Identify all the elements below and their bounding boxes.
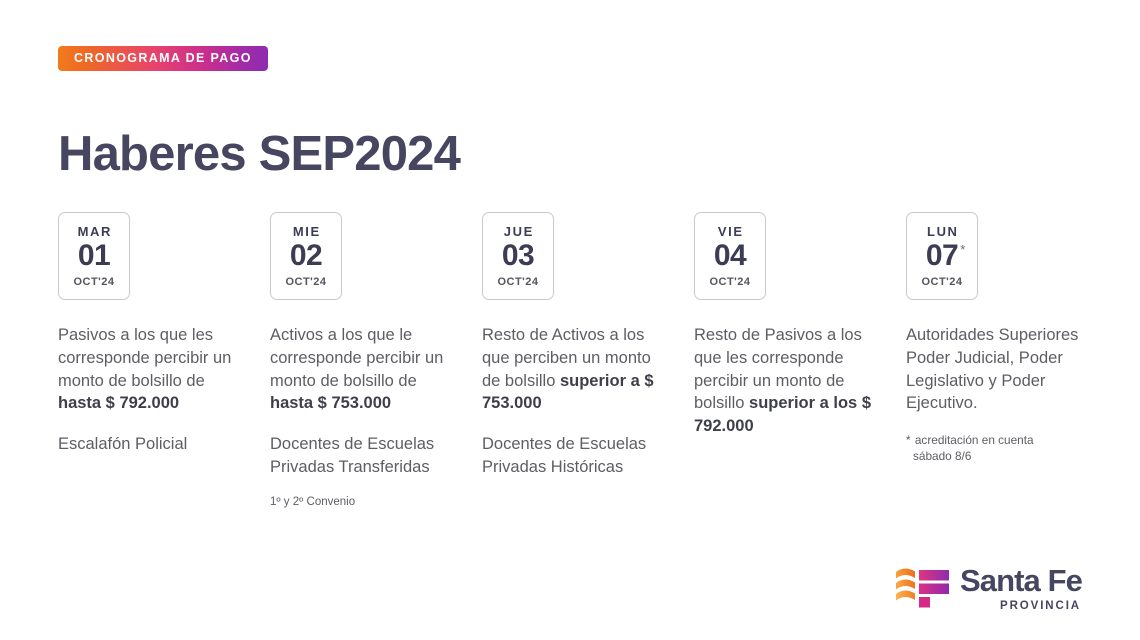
column-description: Resto de Pasivos a los que les correspon… <box>694 324 880 438</box>
footnote-line-1: acreditación en cuenta <box>912 433 1034 447</box>
date-card-month: OCT'24 <box>73 277 114 288</box>
column-description: Resto de Activos a los que perciben un m… <box>482 324 668 415</box>
date-card-weekday: MAR <box>76 225 112 238</box>
column-note: 1º y 2º Convenio <box>270 495 482 510</box>
date-card-day-wrap: 01 <box>78 241 110 271</box>
santa-fe-logo: Santa Fe PROVINCIA <box>895 565 1082 613</box>
column-description: Pasivos a los que les corresponde percib… <box>58 324 244 415</box>
date-card-asterisk-icon: * <box>960 243 965 256</box>
date-card-month: OCT'24 <box>921 277 962 288</box>
payment-schedule-poster: CRONOGRAMA DE PAGO Haberes SEP2024 MAR 0… <box>0 0 1140 640</box>
date-card: MAR 01 OCT'24 <box>58 212 130 300</box>
date-card-day-wrap: 07 * <box>926 241 958 271</box>
date-card-day: 01 <box>78 241 110 271</box>
santa-fe-logo-text: Santa Fe PROVINCIA <box>960 565 1082 613</box>
column-description-pre: Pasivos a los que les corresponde percib… <box>58 326 231 390</box>
column-description-pre: Activos a los que le corresponde percibi… <box>270 326 443 390</box>
date-card-day-wrap: 03 <box>502 241 534 271</box>
cronograma-badge: CRONOGRAMA DE PAGO <box>58 46 268 71</box>
date-card-weekday: VIE <box>716 225 743 238</box>
date-card-weekday: JUE <box>502 225 534 238</box>
santa-fe-logo-subtitle: PROVINCIA <box>1000 601 1082 613</box>
column-description: Activos a los que le corresponde percibi… <box>270 324 456 415</box>
cronograma-badge-label: CRONOGRAMA DE PAGO <box>74 52 252 65</box>
date-card-day-wrap: 04 <box>714 241 746 271</box>
column-footnote: * acreditación en cuentasábado 8/6 <box>906 433 1084 465</box>
column-subtitle: Docentes de Escuelas Privadas Transferid… <box>270 433 460 479</box>
schedule-column: JUE 03 OCT'24 Resto de Activos a los que… <box>482 212 694 522</box>
column-subtitle: Docentes de Escuelas Privadas Históricas <box>482 433 672 479</box>
schedule-column: MAR 01 OCT'24 Pasivos a los que les corr… <box>58 212 270 522</box>
date-card-weekday: LUN <box>925 225 958 238</box>
date-card-weekday: MIE <box>291 225 321 238</box>
footnote-asterisk-icon: * <box>906 433 911 447</box>
date-card-day: 02 <box>290 241 322 271</box>
date-card-day-wrap: 02 <box>290 241 322 271</box>
column-description-pre: Autoridades Superiores Poder Judicial, P… <box>906 326 1078 412</box>
column-subtitle: Escalafón Policial <box>58 433 248 456</box>
column-description-amount: hasta $ 792.000 <box>58 394 179 412</box>
date-card-day: 07 <box>926 241 958 271</box>
schedule-columns: MAR 01 OCT'24 Pasivos a los que les corr… <box>58 212 1088 522</box>
footnote-line-2: sábado 8/6 <box>906 449 1084 465</box>
date-card: VIE 04 OCT'24 <box>694 212 766 300</box>
santa-fe-logo-mark-icon <box>895 566 951 610</box>
date-card: LUN 07 * OCT'24 <box>906 212 978 300</box>
date-card-day: 03 <box>502 241 534 271</box>
schedule-column: MIE 02 OCT'24 Activos a los que le corre… <box>270 212 482 522</box>
column-description: Autoridades Superiores Poder Judicial, P… <box>906 324 1092 415</box>
date-card-month: OCT'24 <box>497 277 538 288</box>
column-description-amount: hasta $ 753.000 <box>270 394 391 412</box>
date-card-month: OCT'24 <box>285 277 326 288</box>
date-card: MIE 02 OCT'24 <box>270 212 342 300</box>
date-card-month: OCT'24 <box>709 277 750 288</box>
date-card-day: 04 <box>714 241 746 271</box>
schedule-column: VIE 04 OCT'24 Resto de Pasivos a los que… <box>694 212 906 522</box>
date-card: JUE 03 OCT'24 <box>482 212 554 300</box>
schedule-column: LUN 07 * OCT'24 Autoridades Superiores P… <box>906 212 1118 522</box>
santa-fe-logo-name: Santa Fe <box>960 565 1082 596</box>
page-title: Haberes SEP2024 <box>58 129 460 180</box>
